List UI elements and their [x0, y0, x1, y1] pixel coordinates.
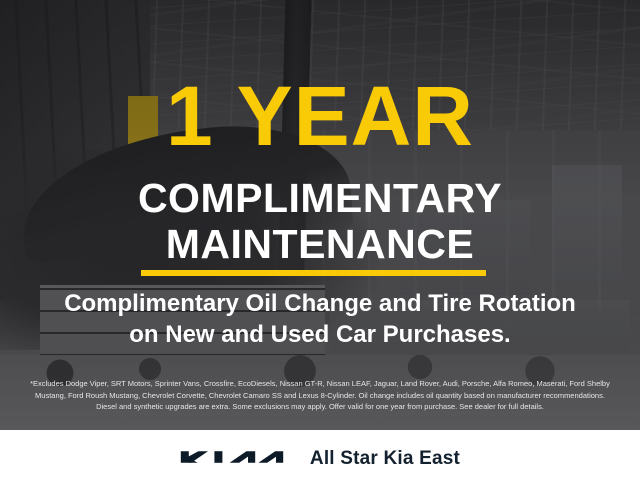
- subheadline-line-1: Complimentary Oil Change and Tire Rotati…: [0, 288, 640, 319]
- footer-brand-bar: All Star Kia East: [0, 430, 640, 488]
- disclaimer-line-2: Mustang, Ford Roush Mustang, Chevrolet C…: [14, 390, 626, 402]
- disclaimer-text: *Excludes Dodge Viper, SRT Motors, Sprin…: [14, 378, 626, 413]
- yellow-divider-bar: [141, 270, 486, 276]
- disclaimer-line-1: *Excludes Dodge Viper, SRT Motors, Sprin…: [14, 378, 626, 390]
- hero-content: 1 YEAR COMPLIMENTARY MAINTENANCE Complim…: [0, 0, 640, 430]
- subheadline-line-2: on New and Used Car Purchases.: [0, 319, 640, 350]
- headline-maintenance: MAINTENANCE: [0, 224, 640, 265]
- headline-year: 1 YEAR: [0, 74, 640, 158]
- promotional-banner: 1 YEAR COMPLIMENTARY MAINTENANCE Complim…: [0, 0, 640, 488]
- headline-complimentary: COMPLIMENTARY: [0, 178, 640, 219]
- disclaimer-line-3: Diesel and synthetic upgrades are extra.…: [14, 401, 626, 413]
- subheadline: Complimentary Oil Change and Tire Rotati…: [0, 288, 640, 350]
- kia-logo-icon: [180, 444, 284, 475]
- dealer-name: All Star Kia East: [310, 448, 460, 470]
